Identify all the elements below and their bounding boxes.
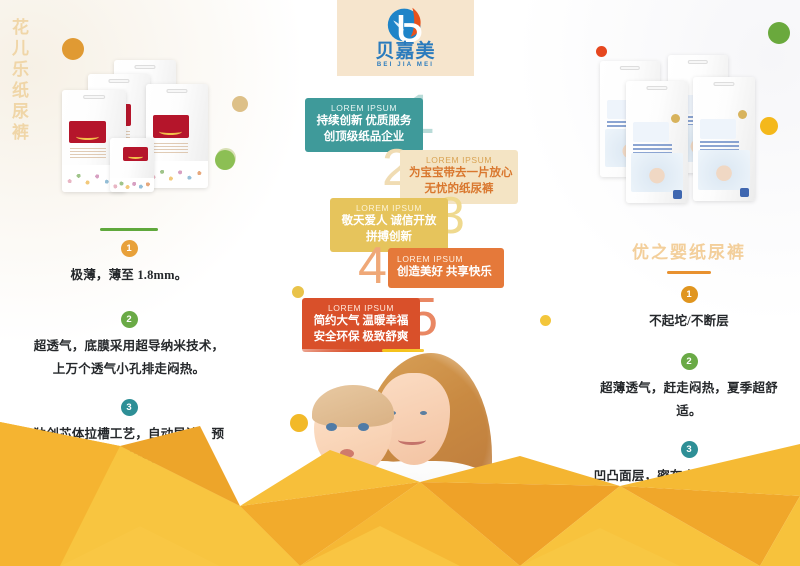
decorative-dot [768, 22, 790, 44]
product-pack-small [110, 138, 154, 192]
pack-baby-photo [698, 150, 750, 190]
value-block-4-box: LOREM IPSUM 创造美好 共享快乐 [388, 248, 504, 288]
pack-seal-icon [738, 110, 747, 119]
logo-chinese-name: 贝嘉美 [337, 42, 474, 61]
left-feature-2-line2: 上万个透气小孔排走闷热。 [18, 358, 240, 381]
pack-handle [83, 95, 105, 99]
pack-baby-photo [631, 153, 683, 192]
value-block-5-lorem: LOREM IPSUM [311, 303, 411, 314]
left-feature-1-badge: 1 [121, 240, 138, 257]
pack-handle [134, 65, 155, 69]
pack-handle [688, 60, 708, 64]
value-block-5-box: LOREM IPSUM 简约大气 温暖幸福 安全环保 极致舒爽 [302, 298, 420, 352]
vertical-side-label: 花儿乐纸尿裤 [6, 18, 31, 144]
product-pack [626, 81, 688, 203]
pack-handle [166, 89, 187, 93]
pack-handle [713, 82, 734, 86]
value-proposition-blocks: 1 LOREM IPSUM 持续创新 优质服务 创顶级纸品企业 2 LOREM … [296, 92, 516, 352]
value-block-1-line1: 持续创新 优质服务 [314, 114, 414, 130]
pack-floral-art [146, 161, 208, 188]
decorative-dot [760, 117, 778, 135]
left-feature-1-line1: 极薄，薄至 1.8mm。 [18, 264, 240, 287]
pack-seal-icon [671, 114, 680, 123]
value-block-4-line1: 创造美好 共享快乐 [397, 265, 495, 281]
huaerle-diaper-packs [62, 60, 222, 190]
right-column-title: 优之婴纸尿裤 [578, 238, 800, 263]
b-swoosh-logo-icon [384, 5, 428, 45]
decorative-dot [540, 315, 551, 326]
pack-brand-label [153, 115, 189, 138]
brand-logo-panel: 贝嘉美 BEI JIA MEI [337, 0, 474, 76]
left-feature-2: 2 超透气，底膜采用超导纳米技术， 上万个透气小孔排走闷热。 [18, 311, 240, 381]
pack-brand-label [123, 147, 148, 161]
value-block-3-lorem: LOREM IPSUM [339, 203, 439, 214]
left-feature-2-badge: 2 [121, 311, 138, 328]
value-block-4-lorem: LOREM IPSUM [397, 254, 495, 265]
pack-text-lines [70, 148, 106, 158]
value-block-5-line2: 安全环保 极致舒爽 [311, 330, 411, 346]
value-block-3-box: LOREM IPSUM 敬天爱人 诚信开放 拼搏创新 [330, 198, 448, 252]
poster-canvas: 花儿乐纸尿裤 贝嘉美 BEI JIA MEI [0, 0, 800, 566]
pack-handle [108, 79, 129, 83]
product-pack [146, 84, 208, 188]
right-column-rule [667, 271, 711, 274]
pack-handle [620, 66, 640, 70]
value-block-5-line1: 简约大气 温暖幸福 [311, 314, 411, 330]
right-feature-1-badge: 1 [681, 286, 698, 303]
value-block-4-number: 4 [358, 246, 387, 287]
right-feature-2-badge: 2 [681, 353, 698, 370]
left-feature-1: 1 极薄，薄至 1.8mm。 [18, 240, 240, 287]
logo-pinyin: BEI JIA MEI [337, 62, 474, 68]
bottom-polygon-band [0, 386, 800, 566]
value-block-3-line1: 敬天爱人 诚信开放 [339, 214, 439, 230]
pack-brand-label [633, 122, 669, 142]
pack-brand-label [69, 121, 106, 143]
value-block-2-line1: 为宝宝带去一片放心 [409, 166, 509, 182]
value-block-3-line2: 拼搏创新 [339, 230, 439, 246]
pack-floral-art [110, 178, 154, 192]
pack-brand-label [700, 119, 736, 139]
youzhiying-diaper-packs [600, 55, 760, 205]
left-column-rule [100, 228, 158, 231]
pack-handle [646, 86, 667, 90]
decorative-dot [62, 38, 84, 60]
pack-size-badge [673, 190, 682, 199]
product-pack [693, 77, 755, 201]
pack-size-badge [740, 188, 749, 197]
pack-text-lines [153, 143, 188, 153]
decorative-dot [232, 96, 248, 112]
value-block-2-lorem: LOREM IPSUM [409, 155, 509, 166]
right-feature-1-line1: 不起坨/不断层 [578, 310, 800, 333]
left-feature-2-line1: 超透气，底膜采用超导纳米技术， [18, 335, 240, 358]
right-feature-1: 1 不起坨/不断层 [578, 286, 800, 333]
value-block-1-lorem: LOREM IPSUM [314, 103, 414, 114]
